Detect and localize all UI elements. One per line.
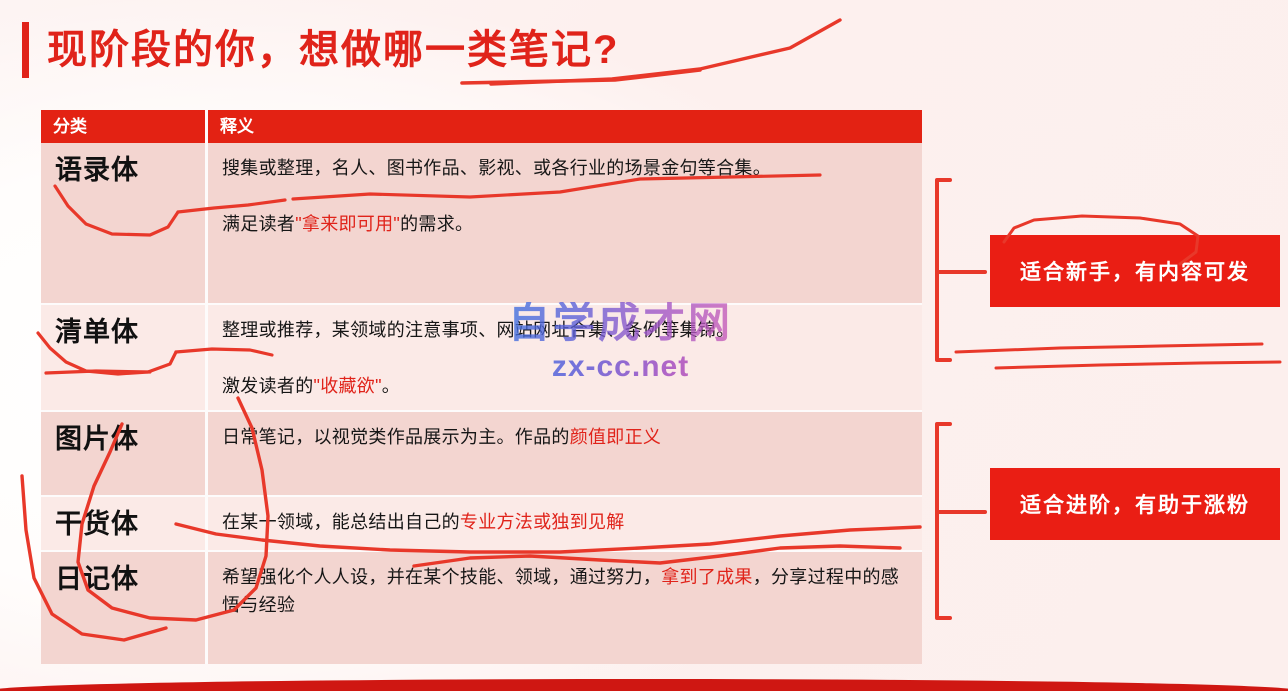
definition-text: 在某一领域，能总结出自己的 [222,512,460,532]
definition-emphasis: 拿到了成果 [661,567,753,587]
row-definition: 日常笔记，以视觉类作品展示为主。作品的颜值即正义 [208,412,922,495]
definition-line: 满足读者"拿来即可用"的需求。 [222,210,908,238]
table-row[interactable]: 语录体 搜集或整理，名人、图书作品、影视、或各行业的场景金句等合集。 满足读者"… [41,143,922,305]
definition-text: 希望强化个人人设，并在某个技能、领域，通过努力， [222,567,661,587]
definition-line: 激发读者的"收藏欲"。 [222,372,908,400]
row-definition: 在某一领域，能总结出自己的专业方法或独到见解 [208,497,922,550]
row-category: 图片体 [41,412,208,495]
callout-label: 适合进阶，有助于涨粉 [1020,489,1250,519]
definition-line: 希望强化个人人设，并在某个技能、领域，通过努力，拿到了成果，分享过程中的感悟与经… [222,563,908,619]
definition-emphasis: "拿来即可用" [295,214,400,234]
column-header-definition: 释义 [208,110,922,143]
definition-line: 在某一领域，能总结出自己的专业方法或独到见解 [222,508,908,536]
definition-line: 搜集或整理，名人、图书作品、影视、或各行业的场景金句等合集。 [222,154,908,182]
callout-beginner[interactable]: 适合新手，有内容可发 [990,235,1280,307]
definition-text: 日常笔记，以视觉类作品展示为主。作品的 [222,427,570,447]
note-types-table: 分类 释义 语录体 搜集或整理，名人、图书作品、影视、或各行业的场景金句等合集。… [41,110,922,664]
row-definition: 整理或推荐，某领域的注意事项、网站网址合集、条例等集锦。 激发读者的"收藏欲"。 [208,305,922,410]
definition-line: 日常笔记，以视觉类作品展示为主。作品的颜值即正义 [222,423,908,451]
row-category: 清单体 [41,305,208,410]
table-row[interactable]: 干货体 在某一领域，能总结出自己的专业方法或独到见解 [41,497,922,552]
annotation-double-line-2 [996,362,1280,368]
annotation-double-line-1 [956,344,1262,352]
table-row[interactable]: 清单体 整理或推荐，某领域的注意事项、网站网址合集、条例等集锦。 激发读者的"收… [41,305,922,412]
row-definition: 希望强化个人人设，并在某个技能、领域，通过努力，拿到了成果，分享过程中的感悟与经… [208,552,922,664]
definition-emphasis: "收藏欲" [314,376,382,396]
definition-text: 搜集或整理，名人、图书作品、影视、或各行业的场景金句等合集。 [222,158,771,178]
definition-text: 整理或推荐，某领域的注意事项、网站网址合集、条例等集锦。 [222,320,734,340]
annotation-bracket-bottom [937,424,950,618]
row-definition: 搜集或整理，名人、图书作品、影视、或各行业的场景金句等合集。 满足读者"拿来即可… [208,143,922,303]
definition-text: 。 [382,376,400,396]
definition-emphasis: 颜值即正义 [570,427,662,447]
column-header-category: 分类 [41,110,208,143]
callout-label: 适合新手，有内容可发 [1020,256,1250,286]
title-accent-bar [22,22,29,78]
table-row[interactable]: 图片体 日常笔记，以视觉类作品展示为主。作品的颜值即正义 [41,412,922,497]
bottom-accent-strip [0,679,1288,691]
row-category: 日记体 [41,552,208,664]
callout-advanced[interactable]: 适合进阶，有助于涨粉 [990,468,1280,540]
annotation-bracket-top [937,180,950,360]
page-title: 现阶段的你，想做哪一类笔记? [22,22,619,78]
definition-text: 激发读者的 [222,376,314,396]
definition-text: 的需求。 [400,214,473,234]
table-row[interactable]: 日记体 希望强化个人人设，并在某个技能、领域，通过努力，拿到了成果，分享过程中的… [41,552,922,664]
definition-text: 满足读者 [222,214,295,234]
definition-line: 整理或推荐，某领域的注意事项、网站网址合集、条例等集锦。 [222,316,908,344]
row-category: 干货体 [41,497,208,550]
slide-canvas: 现阶段的你，想做哪一类笔记? 分类 释义 语录体 搜集或整理，名人、图书作品、影… [0,0,1288,691]
row-category: 语录体 [41,143,208,303]
table-header-row: 分类 释义 [41,110,922,143]
definition-emphasis: 专业方法或独到见解 [460,512,625,532]
page-title-text: 现阶段的你，想做哪一类笔记? [47,30,619,70]
